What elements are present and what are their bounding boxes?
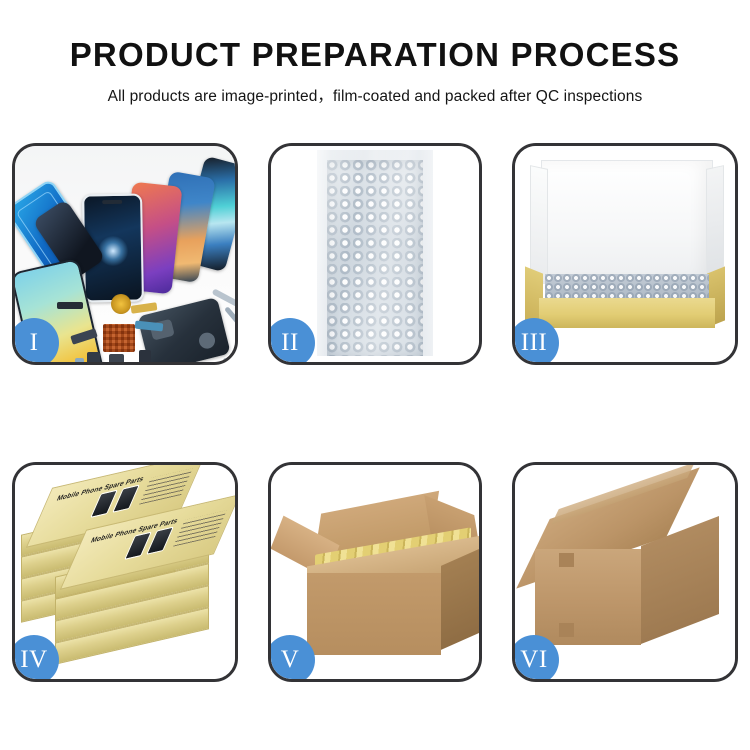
panel-step-3: III	[512, 143, 738, 365]
step-badge-2: II	[268, 318, 315, 365]
process-step-grid: I II III	[0, 0, 750, 750]
box-lid-flap-right	[706, 165, 724, 283]
box-spec-lines	[173, 510, 227, 546]
panel-step-6: VI	[512, 462, 738, 682]
box-spec-lines	[139, 468, 193, 504]
carton-front-panel	[307, 573, 441, 655]
panel-step-2: II	[268, 143, 482, 365]
part-screw-1	[223, 358, 229, 362]
part-chip-2	[109, 354, 124, 362]
phone-notch-icon	[102, 200, 122, 204]
carton-handle-tab-top	[559, 553, 574, 567]
part-copper-grid	[103, 324, 135, 352]
step-badge-6: VI	[512, 635, 559, 682]
part-chip-3	[139, 350, 151, 362]
step-badge-4: IV	[12, 635, 59, 682]
bubble-wrap-sheen	[317, 150, 433, 356]
panel-step-4: Mobile Phone Spare Parts Mobile Phone Sp…	[12, 462, 238, 682]
part-camera-module	[75, 358, 84, 362]
part-coil	[111, 294, 131, 314]
panel-step-5: V	[268, 462, 482, 682]
carton-handle-tab-bottom	[559, 623, 574, 637]
step-badge-3: III	[512, 318, 559, 365]
bubble-wrap-sleeve	[317, 150, 433, 356]
sealed-carton-front	[535, 549, 641, 645]
part-chip-1	[87, 352, 100, 362]
carton-side-panel	[441, 548, 479, 650]
step-badge-1: I	[12, 318, 59, 365]
step-badge-5: V	[268, 635, 315, 682]
box-tray-front	[539, 298, 715, 328]
box-lid-flap-left	[530, 165, 548, 283]
box-white-lid	[541, 160, 713, 284]
panel-step-1: I	[12, 143, 238, 365]
part-bar	[57, 302, 83, 309]
